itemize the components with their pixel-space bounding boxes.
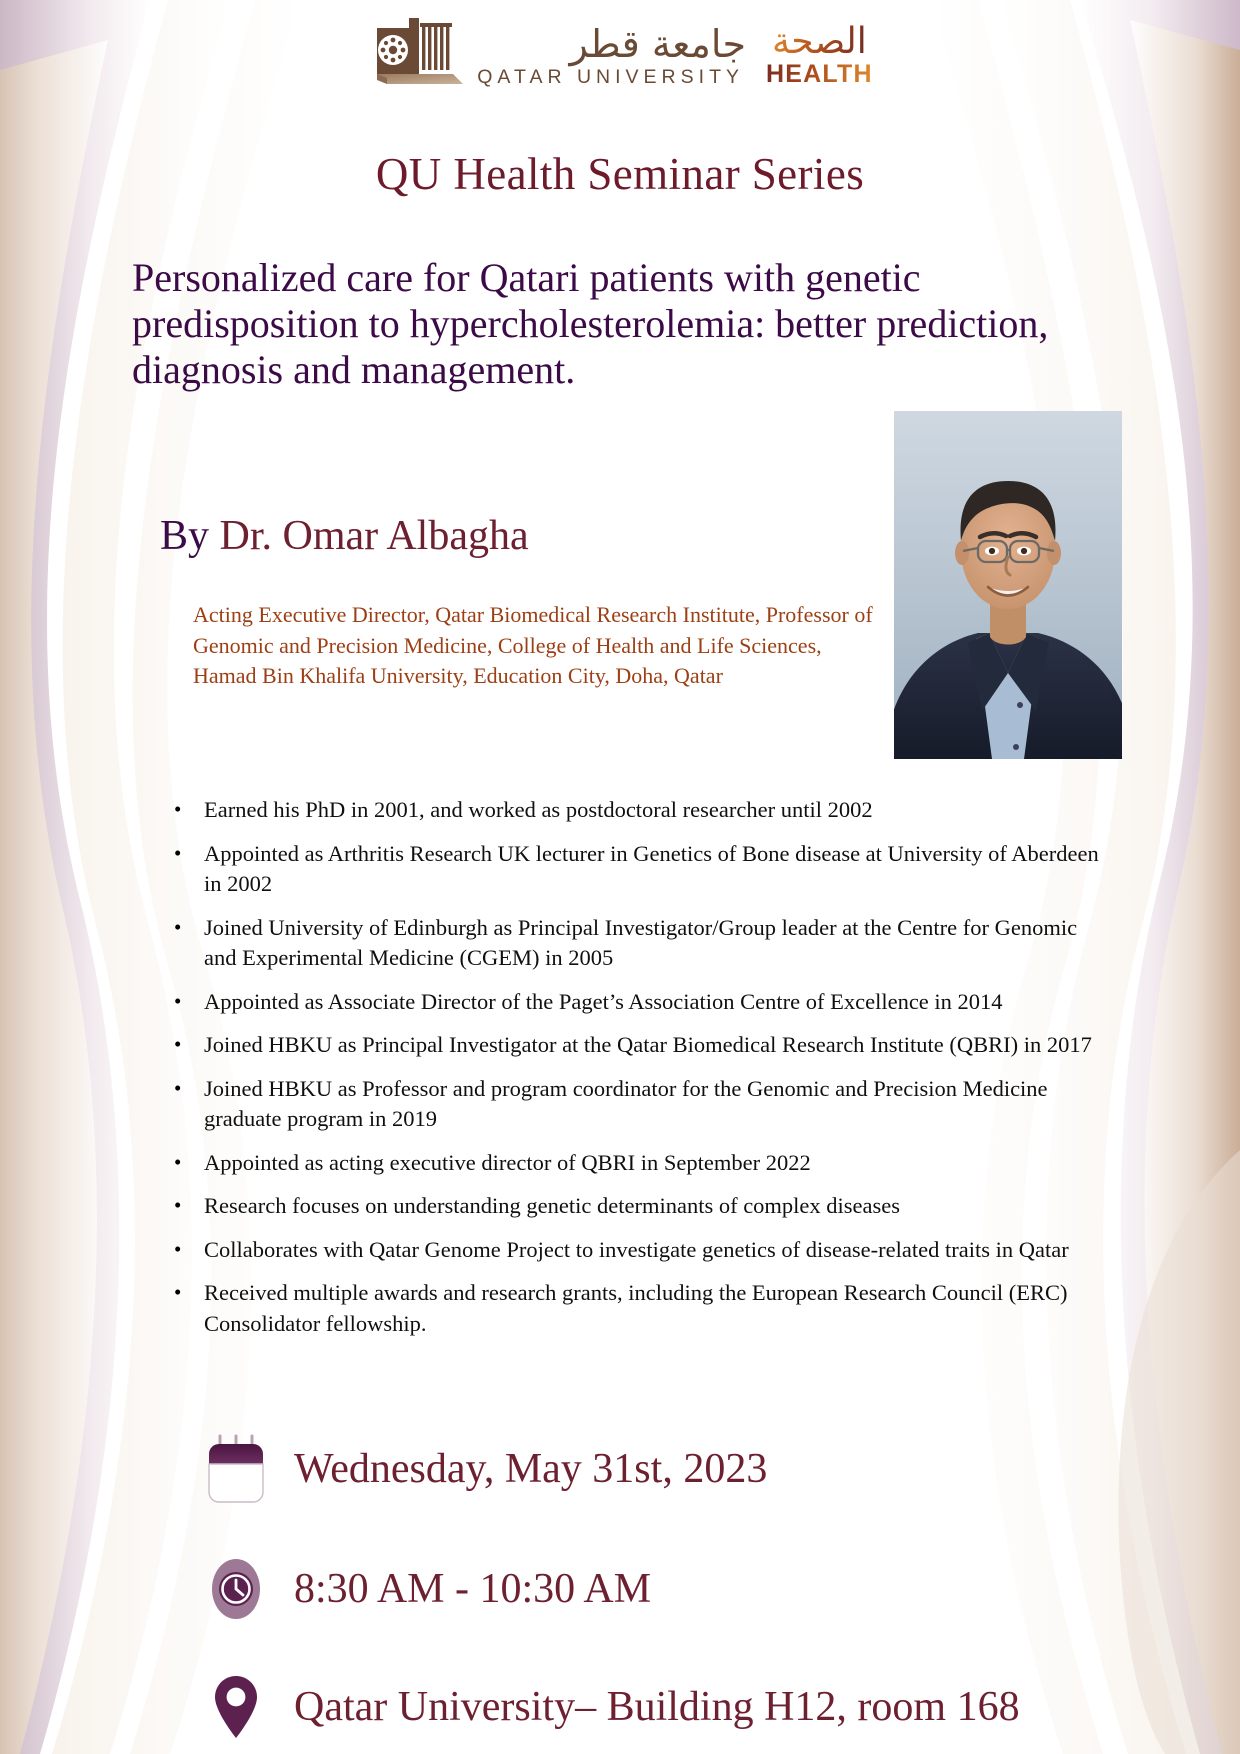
qu-building-logomark xyxy=(367,14,463,88)
clock-icon xyxy=(205,1552,267,1626)
list-item: Joined HBKU as Principal Investigator at… xyxy=(162,1030,1100,1061)
speaker-byline: By Dr. Omar Albagha xyxy=(160,513,529,559)
list-item: Research focuses on understanding geneti… xyxy=(162,1191,1100,1222)
health-wordmark: الصحة HEALTH xyxy=(766,23,873,88)
calendar-icon xyxy=(205,1432,267,1506)
event-date-row: Wednesday, May 31st, 2023 xyxy=(205,1432,767,1506)
speaker-name: Dr. Omar Albagha xyxy=(220,513,529,559)
event-location: Qatar University– Building H12, room 168 xyxy=(294,1684,1020,1730)
event-date: Wednesday, May 31st, 2023 xyxy=(294,1446,767,1492)
list-item: Joined HBKU as Professor and program coo… xyxy=(162,1074,1100,1135)
qu-health-logo: جامعة قطر QATAR UNIVERSITY الصحة HEALTH xyxy=(0,14,1240,88)
health-english-wordmark: HEALTH xyxy=(766,61,873,88)
by-label: By xyxy=(160,513,220,559)
list-item: Appointed as Arthritis Research UK lectu… xyxy=(162,839,1100,900)
list-item: Collaborates with Qatar Genome Project t… xyxy=(162,1235,1100,1266)
qu-english-wordmark: QATAR UNIVERSITY xyxy=(477,66,744,88)
qu-arabic-wordmark: جامعة قطر xyxy=(569,24,746,64)
qu-wordmark: جامعة قطر QATAR UNIVERSITY xyxy=(477,24,746,88)
list-item: Appointed as acting executive director o… xyxy=(162,1148,1100,1179)
list-item: Joined University of Edinburgh as Princi… xyxy=(162,913,1100,974)
event-time-row: 8:30 AM - 10:30 AM xyxy=(205,1552,651,1626)
talk-title: Personalized care for Qatari patients wi… xyxy=(132,255,1067,393)
location-pin-icon xyxy=(205,1670,267,1744)
speaker-photo xyxy=(894,411,1122,759)
list-item: Received multiple awards and research gr… xyxy=(162,1278,1100,1339)
event-time: 8:30 AM - 10:30 AM xyxy=(294,1566,651,1612)
list-item: Appointed as Associate Director of the P… xyxy=(162,987,1100,1018)
list-item: Earned his PhD in 2001, and worked as po… xyxy=(162,795,1100,826)
speaker-bio-list: Earned his PhD in 2001, and worked as po… xyxy=(162,795,1100,1352)
speaker-affiliation: Acting Executive Director, Qatar Biomedi… xyxy=(193,600,883,692)
health-arabic-wordmark: الصحة xyxy=(772,23,867,61)
seminar-series-title: QU Health Seminar Series xyxy=(0,148,1240,200)
event-location-row: Qatar University– Building H12, room 168 xyxy=(205,1670,1020,1744)
